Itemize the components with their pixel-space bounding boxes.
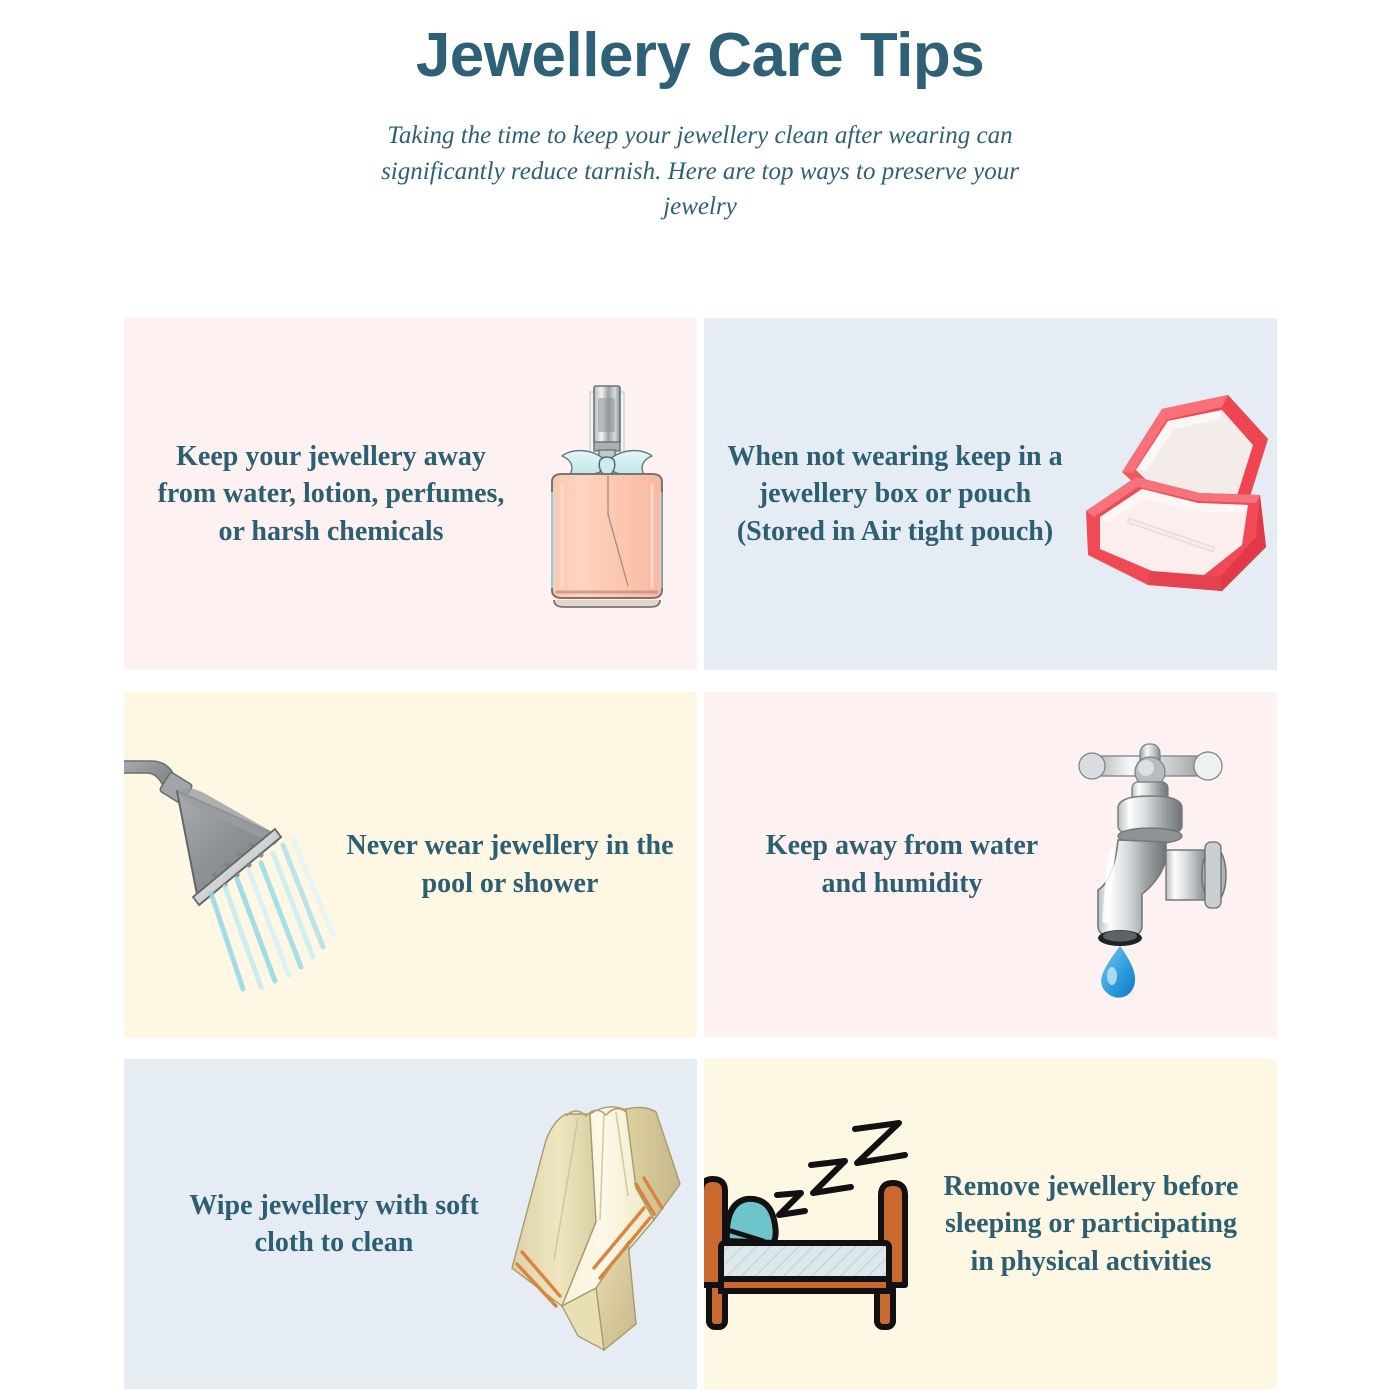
tip-card-label: Wipe jewellery with soft cloth to clean: [124, 1187, 504, 1261]
cloth-icon: [504, 1092, 697, 1357]
page-subtitle: Taking the time to keep your jewellery c…: [380, 118, 1020, 225]
tip-card-label: When not wearing keep in a jewellery box…: [704, 438, 1070, 550]
tip-card-cloth: Wipe jewellery with soft cloth to clean: [124, 1059, 697, 1389]
tip-card-label: Keep your jewellery away from water, lot…: [124, 438, 516, 550]
tip-card-faucet: Keep away from water and humidity: [704, 692, 1277, 1037]
tip-card-label: Never wear jewellery in the pool or show…: [345, 827, 697, 901]
tip-card-label: Keep away from water and humidity: [704, 827, 1062, 901]
tip-card-sleep: Remove jewellery before sleeping or part…: [704, 1059, 1277, 1389]
tip-card-label: Remove jewellery before sleeping or part…: [941, 1168, 1277, 1280]
infographic-page: Jewellery Care Tips Taking the time to k…: [0, 0, 1400, 1400]
bed-sleep-icon: [704, 1109, 941, 1339]
perfume-bottle-icon: [516, 364, 697, 624]
tips-grid: Keep your jewellery away from water, lot…: [124, 318, 1277, 1389]
shower-head-icon: [124, 735, 345, 995]
tip-card-jewellery-box: When not wearing keep in a jewellery box…: [704, 318, 1277, 670]
page-title: Jewellery Care Tips: [0, 22, 1400, 90]
ring-box-icon: [1070, 377, 1277, 612]
tip-card-perfume: Keep your jewellery away from water, lot…: [124, 318, 697, 670]
header: Jewellery Care Tips Taking the time to k…: [0, 0, 1400, 225]
tip-card-shower: Never wear jewellery in the pool or show…: [124, 692, 697, 1037]
faucet-icon: [1062, 730, 1277, 1000]
